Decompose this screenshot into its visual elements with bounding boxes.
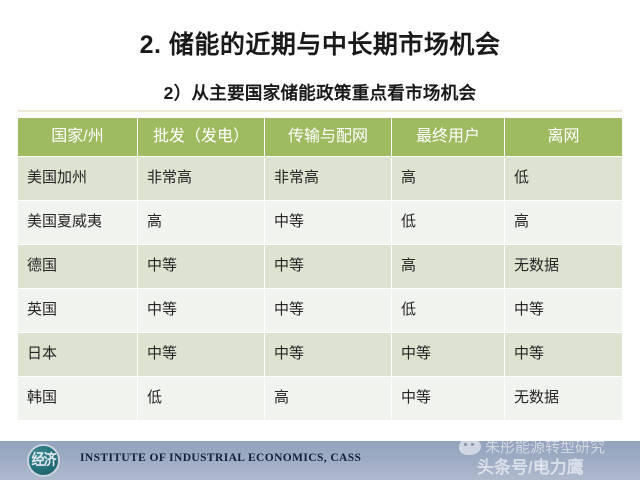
cell-value: 中等 — [265, 201, 391, 244]
table-body: 美国加州非常高非常高高低美国夏威夷高中等低高德国中等中等高无数据英国中等中等低中… — [18, 157, 622, 420]
institute-name: INSTITUTE OF INDUSTRIAL ECONOMICS, CASS — [80, 452, 361, 464]
cell-value: 中等 — [138, 333, 264, 376]
cell-value: 中等 — [505, 333, 622, 376]
cell-value: 高 — [392, 157, 504, 200]
cell-value: 高 — [505, 201, 622, 244]
market-opportunity-table: 国家/州 批发（发电） 传输与配网 最终用户 离网 美国加州非常高非常高高低美国… — [17, 117, 617, 421]
column-header-country: 国家/州 — [18, 118, 137, 156]
cell-value: 中等 — [265, 289, 391, 332]
cell-value: 低 — [138, 377, 264, 420]
cell-value: 无数据 — [505, 377, 622, 420]
cell-value: 无数据 — [505, 245, 622, 288]
cell-country: 韩国 — [18, 377, 137, 420]
cell-value: 非常高 — [138, 157, 264, 200]
column-header-transmission: 传输与配网 — [265, 118, 391, 156]
institute-logo: 经济 — [27, 444, 60, 477]
cell-value: 中等 — [392, 333, 504, 376]
cell-value: 非常高 — [265, 157, 391, 200]
cell-country: 德国 — [18, 245, 137, 288]
page-title: 2. 储能的近期与中长期市场机会 — [0, 25, 640, 61]
cell-value: 中等 — [392, 377, 504, 420]
table-header: 国家/州 批发（发电） 传输与配网 最终用户 离网 — [18, 118, 622, 156]
logo-seal-text: 经济 — [31, 453, 55, 468]
slide-canvas: 2. 储能的近期与中长期市场机会 2）从主要国家储能政策重点看市场机会 国家/州… — [0, 0, 640, 480]
cell-value: 中等 — [138, 289, 264, 332]
table-row: 韩国低高中等无数据 — [18, 377, 622, 420]
column-header-offgrid: 离网 — [505, 118, 622, 156]
matrix-table: 国家/州 批发（发电） 传输与配网 最终用户 离网 美国加州非常高非常高高低美国… — [17, 117, 623, 421]
cell-value: 中等 — [138, 245, 264, 288]
table-row: 美国夏威夷高中等低高 — [18, 201, 622, 244]
cell-country: 日本 — [18, 333, 137, 376]
cell-value: 中等 — [265, 333, 391, 376]
table-row: 英国中等中等低中等 — [18, 289, 622, 332]
cell-value: 中等 — [265, 245, 391, 288]
cell-value: 低 — [392, 289, 504, 332]
title-divider — [18, 110, 622, 112]
cell-country: 美国加州 — [18, 157, 137, 200]
cell-value: 高 — [138, 201, 264, 244]
table-row: 美国加州非常高非常高高低 — [18, 157, 622, 200]
column-header-wholesale: 批发（发电） — [138, 118, 264, 156]
cell-country: 英国 — [18, 289, 137, 332]
cell-value: 低 — [505, 157, 622, 200]
column-header-enduser: 最终用户 — [392, 118, 504, 156]
cell-value: 高 — [392, 245, 504, 288]
cell-value: 低 — [392, 201, 504, 244]
table-header-row: 国家/州 批发（发电） 传输与配网 最终用户 离网 — [18, 118, 622, 156]
cell-value: 高 — [265, 377, 391, 420]
table-row: 德国中等中等高无数据 — [18, 245, 622, 288]
table-row: 日本中等中等中等中等 — [18, 333, 622, 376]
page-subtitle: 2）从主要国家储能政策重点看市场机会 — [0, 80, 640, 105]
cell-country: 美国夏威夷 — [18, 201, 137, 244]
cell-value: 中等 — [505, 289, 622, 332]
